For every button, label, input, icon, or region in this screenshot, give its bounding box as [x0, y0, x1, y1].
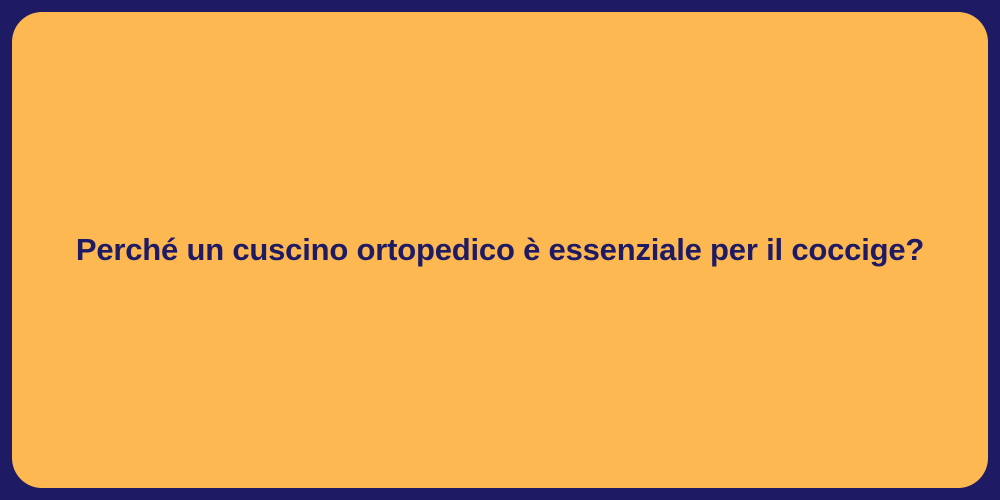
banner-panel: Perché un cuscino ortopedico è essenzial…: [12, 12, 988, 488]
page-title: Perché un cuscino ortopedico è essenzial…: [76, 231, 924, 270]
banner-frame: Perché un cuscino ortopedico è essenzial…: [0, 0, 1000, 500]
